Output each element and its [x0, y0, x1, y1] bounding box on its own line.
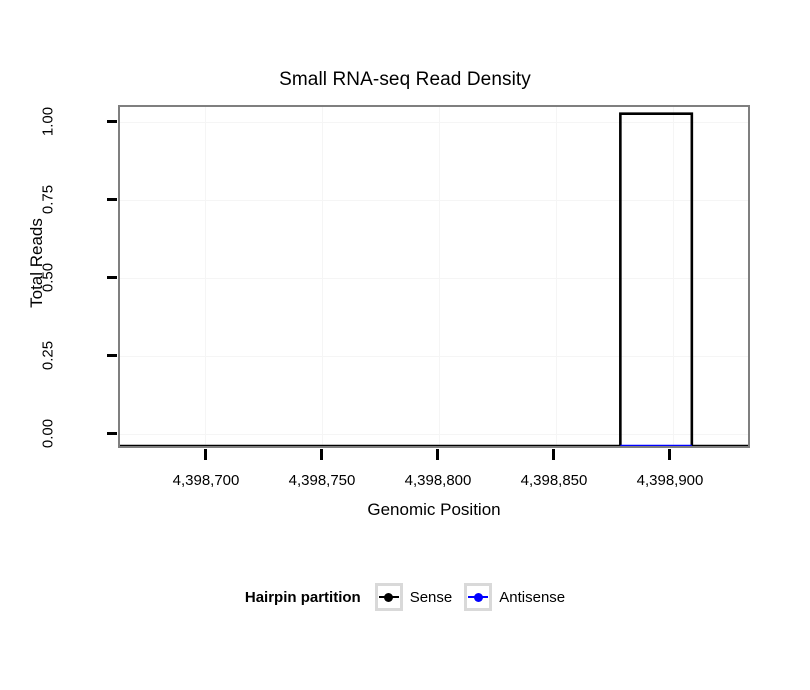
chart-legend: Hairpin partition Sense Antisense [0, 583, 810, 611]
legend-item-sense[interactable]: Sense [375, 583, 453, 611]
legend-label-antisense: Antisense [499, 589, 565, 606]
key-point [384, 593, 393, 602]
key-point [474, 593, 483, 602]
y-tick-label-0.75: 0.75 [0, 192, 98, 207]
y-tick-label-0.50: 0.50 [0, 270, 98, 285]
y-tick-mark-1.00 [107, 120, 117, 123]
legend-item-antisense[interactable]: Antisense [464, 583, 565, 611]
y-tick-label-1.00: 1.00 [0, 114, 98, 129]
y-tick-mark-0.25 [107, 354, 117, 357]
x-tick-mark-4398700 [204, 449, 207, 460]
data-series-layer [120, 107, 748, 446]
y-tick-label-0.00: 0.00 [0, 426, 98, 441]
chart-title: Small RNA-seq Read Density [0, 69, 810, 91]
line-point-key-icon [375, 583, 403, 611]
y-tick-mark-0.50 [107, 276, 117, 279]
legend-label-sense: Sense [410, 589, 453, 606]
line-point-key-icon [464, 583, 492, 611]
legend-title: Hairpin partition [245, 589, 361, 606]
y-tick-label-text: 0.00 [41, 384, 56, 484]
chart-canvas: Small RNA-seq Read Density Total Reads 1… [0, 0, 810, 690]
x-tick-mark-4398800 [436, 449, 439, 460]
plot-panel [118, 105, 750, 448]
x-tick-mark-4398850 [552, 449, 555, 460]
x-tick-label-4398900: 4,398,900 [600, 472, 740, 489]
y-tick-label-0.25: 0.25 [0, 348, 98, 363]
y-tick-mark-0.75 [107, 198, 117, 201]
x-tick-mark-4398900 [668, 449, 671, 460]
x-tick-mark-4398750 [320, 449, 323, 460]
y-tick-mark-0.00 [107, 432, 117, 435]
x-axis-title: Genomic Position [118, 500, 750, 520]
plot-panel-inner [120, 107, 748, 446]
series-line-sense [120, 114, 748, 446]
